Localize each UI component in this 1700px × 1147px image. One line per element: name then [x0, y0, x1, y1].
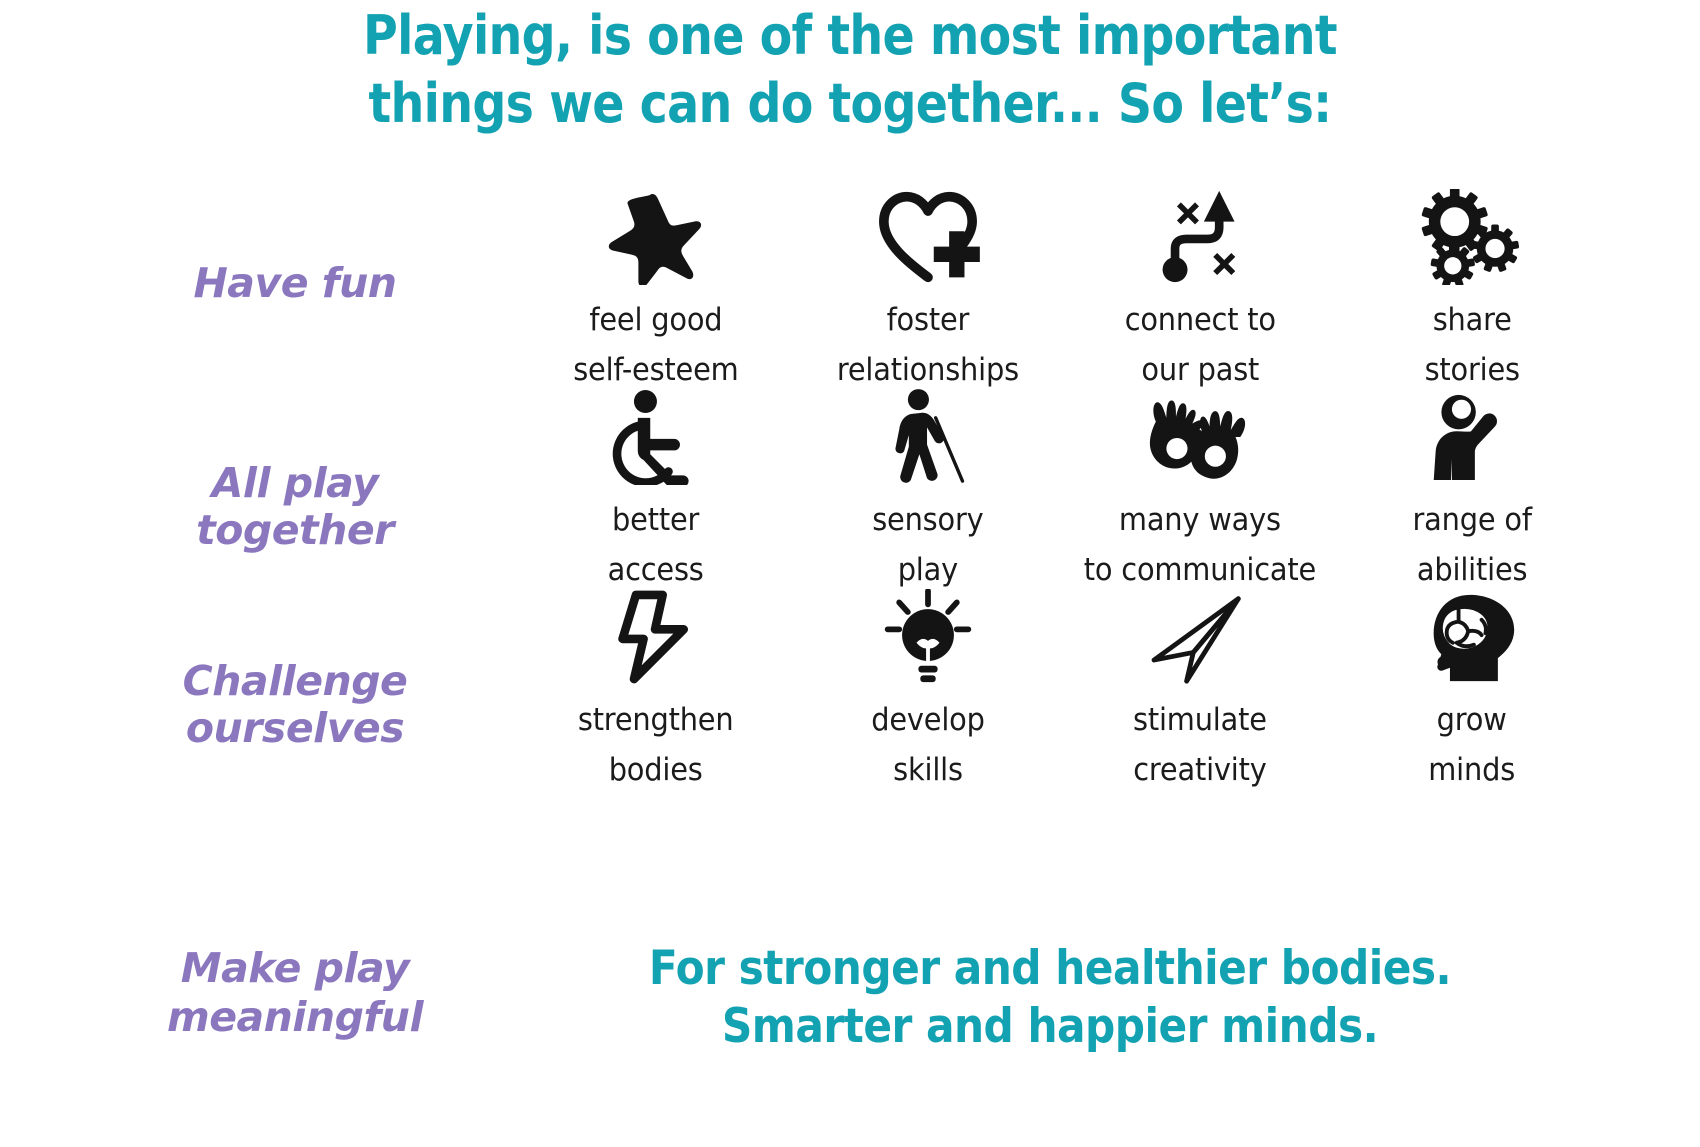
- caption-line-2: bodies: [578, 745, 734, 795]
- poster-canvas: Playing, is one of the most important th…: [0, 0, 1700, 1147]
- cell-stimulate-creativity: stimulate creativity: [1064, 585, 1336, 795]
- person-waving-icon: [1428, 385, 1516, 485]
- row-label-line-1: All play: [120, 460, 470, 507]
- headline-line-1: Playing, is one of the most important: [102, 2, 1598, 70]
- caption-line-1: foster: [837, 295, 1019, 345]
- lightbulb-icon: [880, 585, 976, 685]
- caption-line-1: develop: [871, 695, 984, 745]
- caption-line-2: creativity: [1133, 745, 1267, 795]
- headline: Playing, is one of the most important th…: [102, 2, 1598, 138]
- cell-better-access: better access: [520, 385, 792, 595]
- cell-caption: sensory play: [872, 495, 983, 595]
- headline-line-2: things we can do together... So let’s:: [102, 70, 1598, 138]
- cell-sensory-play: sensory play: [792, 385, 1064, 595]
- bottom-statement-line-2: Smarter and happier minds.: [546, 998, 1554, 1056]
- path-arrow-icon: [1148, 185, 1252, 285]
- bottom-label-line-2: meaningful: [120, 993, 470, 1042]
- bottom-statement-line-1: For stronger and healthier bodies.: [546, 940, 1554, 998]
- cell-caption: connect to our past: [1124, 295, 1275, 395]
- cell-strengthen-bodies: strengthen bodies: [520, 585, 792, 795]
- wheelchair-icon: [609, 385, 703, 485]
- caption-line-1: range of: [1412, 495, 1531, 545]
- cell-foster-relationships: foster relationships: [792, 185, 1064, 395]
- cell-caption: feel good self-esteem: [573, 295, 738, 395]
- row-label-all-play-together: All play together: [120, 460, 470, 554]
- sign-language-hands-icon: [1140, 385, 1260, 485]
- cell-caption: many ways to communicate: [1084, 495, 1316, 595]
- caption-line-1: strengthen: [578, 695, 734, 745]
- caption-line-1: sensory: [872, 495, 983, 545]
- cell-caption: foster relationships: [837, 295, 1019, 395]
- caption-line-2: minds: [1429, 745, 1516, 795]
- cell-caption: share stories: [1424, 295, 1519, 395]
- heart-plus-icon: [874, 185, 982, 285]
- caption-line-1: share: [1424, 295, 1519, 345]
- cell-caption: strengthen bodies: [578, 695, 734, 795]
- caption-line-1: many ways: [1084, 495, 1316, 545]
- head-brain-icon: [1426, 585, 1518, 685]
- cell-connect-to-our-past: connect to our past: [1064, 185, 1336, 395]
- cell-caption: better access: [608, 495, 704, 595]
- cell-range-of-abilities: range of abilities: [1336, 385, 1608, 595]
- caption-line-1: stimulate: [1133, 695, 1267, 745]
- cell-feel-good-self-esteem: feel good self-esteem: [520, 185, 792, 395]
- paper-plane-icon: [1148, 585, 1252, 685]
- row-cells: better access sensory play: [520, 385, 1610, 595]
- row-challenge-ourselves: Challenge ourselves strengthen bodies: [0, 585, 1700, 785]
- cell-caption: stimulate creativity: [1133, 695, 1267, 795]
- caption-line-1: grow: [1429, 695, 1516, 745]
- row-label-challenge-ourselves: Challenge ourselves: [120, 658, 470, 752]
- star-icon: [607, 185, 705, 285]
- row-label-have-fun: Have fun: [120, 260, 470, 307]
- rows-container: Have fun feel good self-esteem: [0, 185, 1700, 785]
- cell-caption: range of abilities: [1412, 495, 1531, 595]
- cell-many-ways-to-communicate: many ways to communicate: [1064, 385, 1336, 595]
- row-label-line-1: Have fun: [120, 260, 470, 307]
- bottom-label-line-1: Make play: [120, 944, 470, 993]
- row-cells: strengthen bodies: [520, 585, 1610, 795]
- cell-share-stories: share stories: [1336, 185, 1608, 395]
- bottom-block: Make play meaningful For stronger and he…: [0, 920, 1700, 1147]
- row-label-line-2: ourselves: [120, 705, 470, 752]
- bottom-statement: For stronger and healthier bodies. Smart…: [546, 940, 1554, 1056]
- caption-line-1: connect to: [1124, 295, 1275, 345]
- row-all-play-together: All play together better access: [0, 385, 1700, 585]
- caption-line-1: feel good: [573, 295, 738, 345]
- row-label-line-2: together: [120, 507, 470, 554]
- row-cells: feel good self-esteem foster relationshi…: [520, 185, 1610, 395]
- lightning-bolt-icon: [613, 585, 699, 685]
- white-cane-walker-icon: [882, 385, 974, 485]
- row-label-make-play-meaningful: Make play meaningful: [120, 944, 470, 1042]
- row-label-line-1: Challenge: [120, 658, 470, 705]
- gears-icon: [1420, 185, 1524, 285]
- caption-line-2: skills: [871, 745, 984, 795]
- cell-caption: develop skills: [871, 695, 984, 795]
- cell-grow-minds: grow minds: [1336, 585, 1608, 795]
- caption-line-1: better: [608, 495, 704, 545]
- row-have-fun: Have fun feel good self-esteem: [0, 185, 1700, 385]
- cell-develop-skills: develop skills: [792, 585, 1064, 795]
- cell-caption: grow minds: [1429, 695, 1516, 795]
